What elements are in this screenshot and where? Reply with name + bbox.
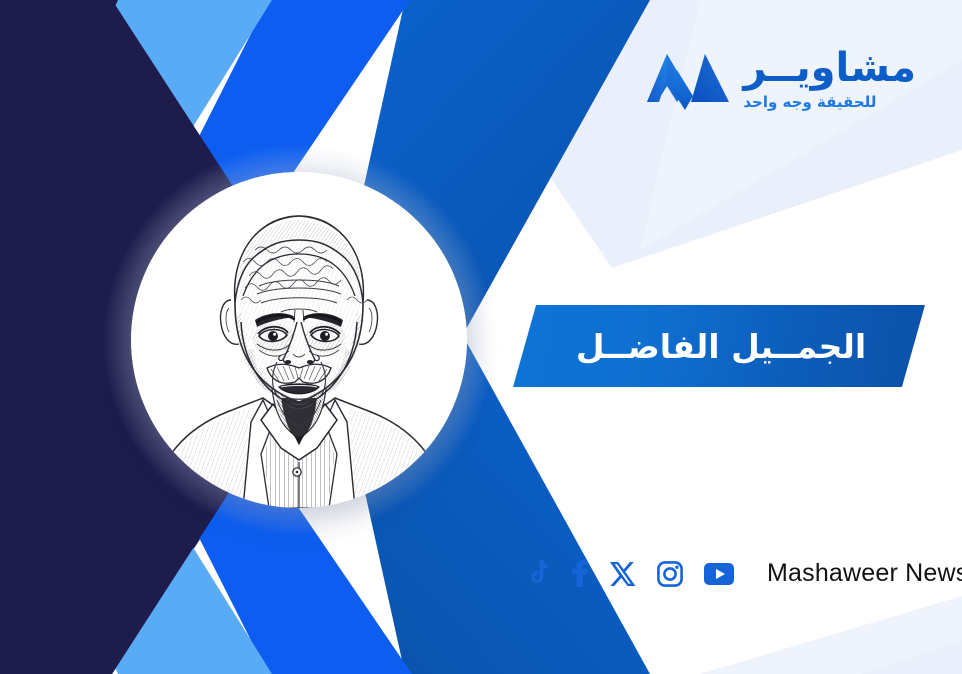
brand-name: مشاويــر	[743, 48, 916, 88]
headline-text: الجمــيل الفاضــل	[576, 327, 866, 366]
brand-wordmark: مشاويــر للحقيقة وجه واحد	[743, 48, 916, 110]
portrait-illustration	[131, 172, 467, 508]
facebook-icon[interactable]	[569, 560, 589, 588]
social-links-row: Mashaweer News	[524, 559, 962, 588]
brand-tagline: للحقيقة وجه واحد	[743, 95, 876, 110]
social-handle-label: Mashaweer News	[767, 559, 962, 588]
instagram-icon[interactable]	[657, 561, 683, 587]
headline-banner: الجمــيل الفاضــل	[513, 305, 925, 387]
portrait-circle	[131, 172, 467, 508]
brand-logo: مشاويــر للحقيقة وجه واحد	[647, 48, 916, 110]
mashaweer-m-logo-icon	[647, 48, 729, 110]
youtube-icon[interactable]	[704, 563, 734, 585]
x-twitter-icon[interactable]	[610, 561, 636, 587]
news-card: مشاويــر للحقيقة وجه واحد الجمــيل الفاض…	[0, 0, 962, 674]
tiktok-icon[interactable]	[524, 560, 548, 588]
